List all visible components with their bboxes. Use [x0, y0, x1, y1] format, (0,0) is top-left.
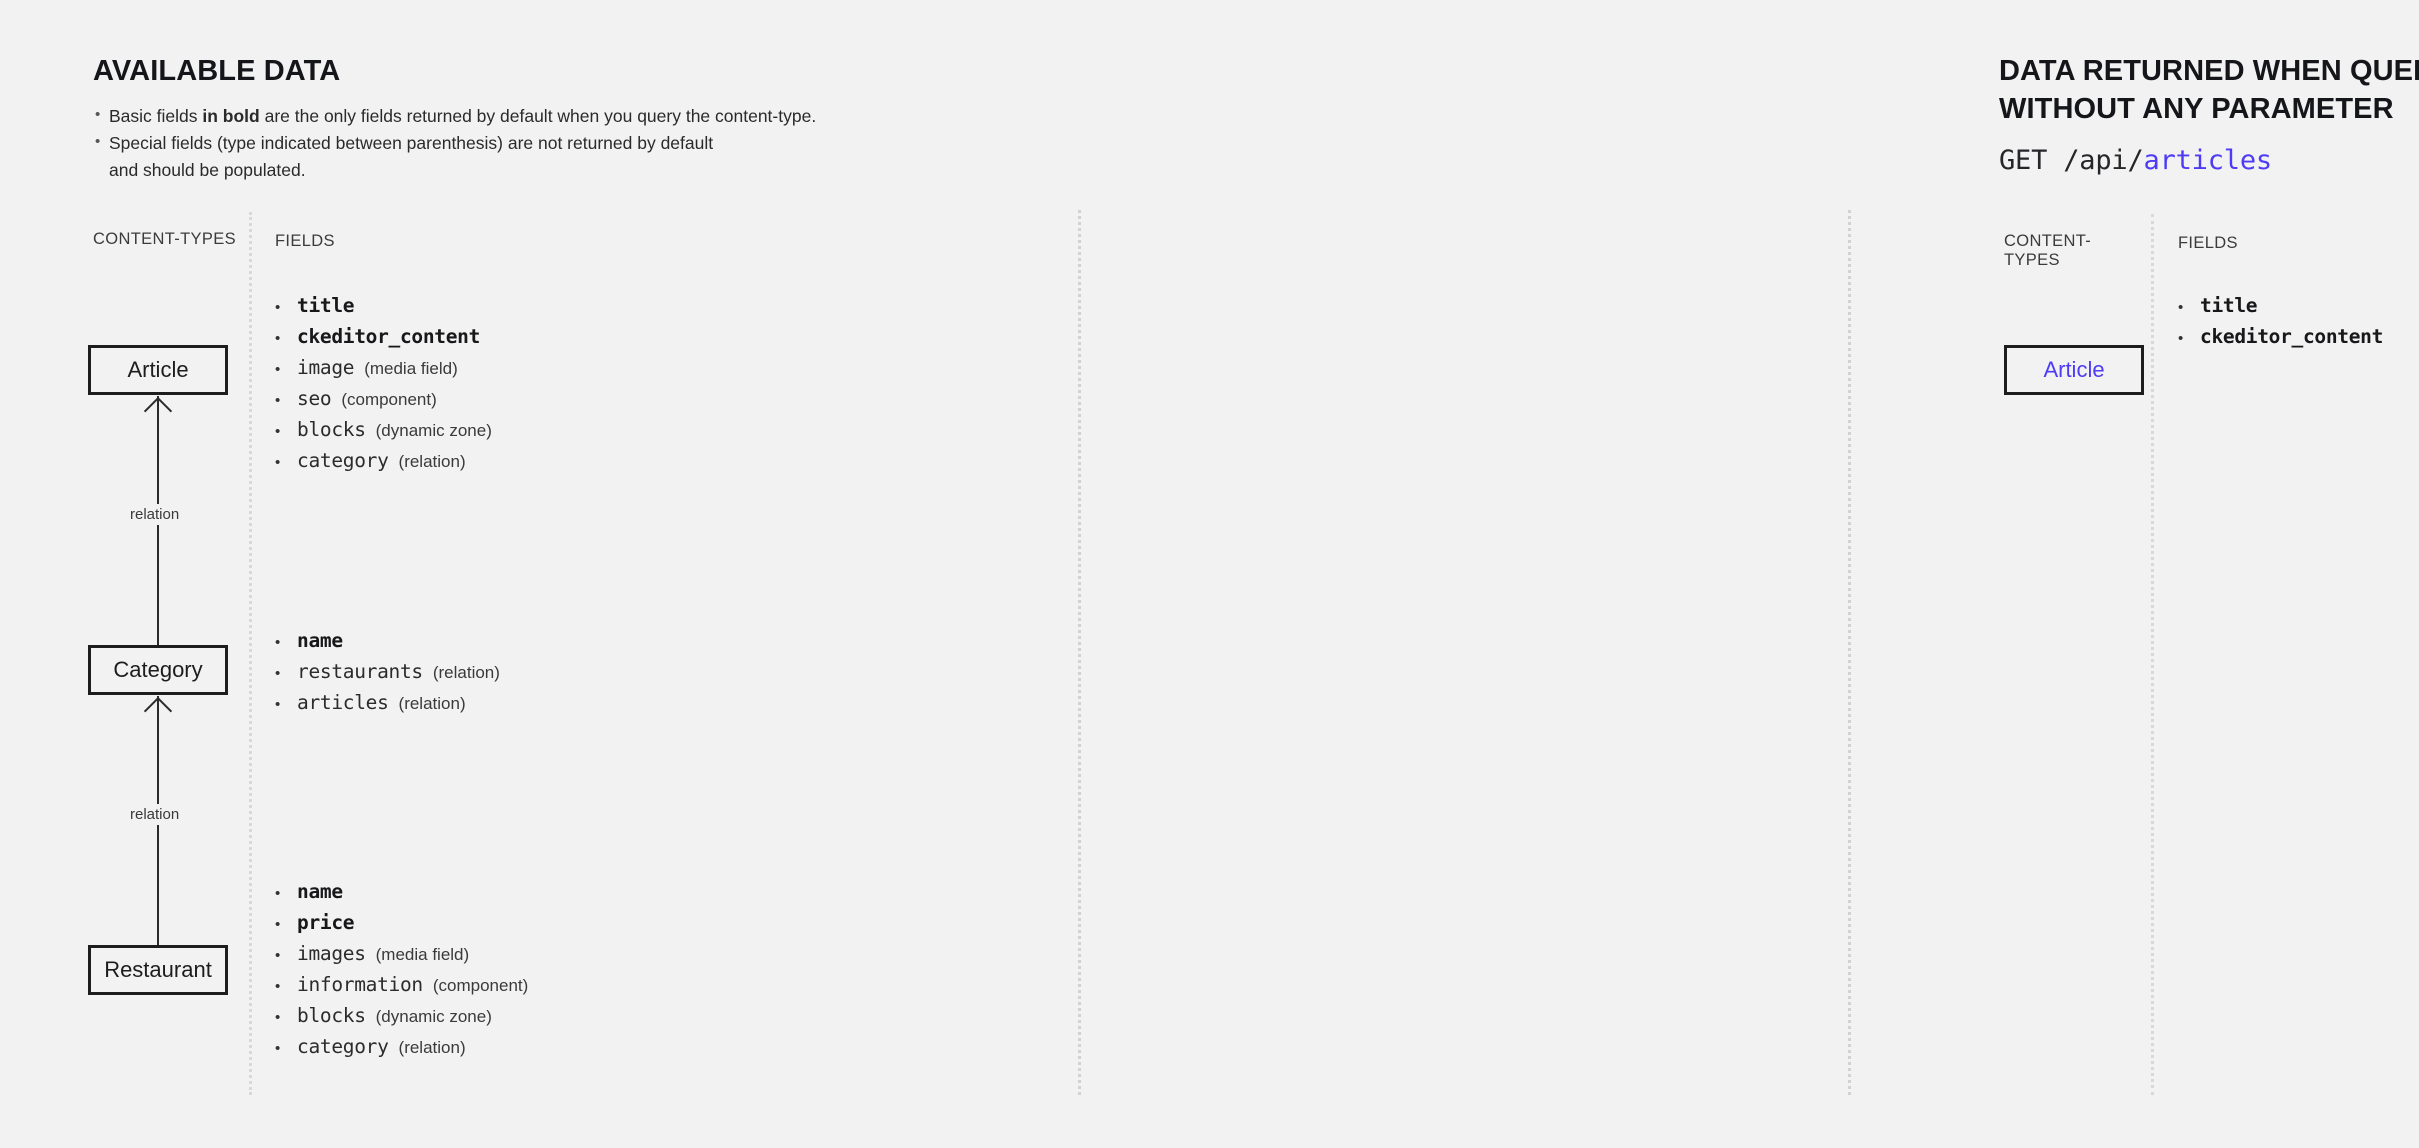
field-row: • title	[275, 292, 492, 323]
field-list-restaurant: • name • price • images (media field) • …	[275, 878, 528, 1064]
bullet-icon: •	[95, 130, 109, 153]
field-name: articles	[297, 691, 389, 714]
bullet-icon: •	[95, 103, 109, 126]
column-label-fields: FIELDS	[275, 232, 335, 251]
field-type: (component)	[341, 390, 436, 410]
field-type: (media field)	[376, 945, 470, 965]
field-row: • blocks (dynamic zone)	[275, 416, 492, 447]
bullet-icon: •	[275, 1002, 297, 1033]
entity-box-restaurant[interactable]: Restaurant	[88, 945, 228, 995]
arrow-head-up-article	[144, 397, 172, 425]
relation-arrow-line-category-restaurant	[157, 696, 159, 966]
relation-arrow-line-article-category	[157, 396, 159, 666]
entity-box-category[interactable]: Category	[88, 645, 228, 695]
bullet-icon: •	[275, 658, 297, 689]
field-type: (dynamic zone)	[376, 421, 492, 441]
field-list-category: • name • restaurants (relation) • articl…	[275, 627, 500, 720]
field-list-article: • title • ckeditor_content • image (medi…	[275, 292, 492, 478]
field-type: (relation)	[433, 663, 500, 683]
bullet-icon: •	[275, 878, 297, 909]
diagram-canvas: AVAILABLE DATA • Basic fields in bold ar…	[0, 0, 2419, 1148]
field-name: restaurants	[297, 660, 423, 683]
field-row: • category (relation)	[275, 447, 492, 478]
bullet-icon: •	[275, 447, 297, 478]
field-row: • seo (component)	[275, 385, 492, 416]
field-row: • category (relation)	[275, 1033, 528, 1064]
bullet-icon: •	[275, 354, 297, 385]
field-row: • name	[275, 627, 500, 658]
bullet-icon: •	[275, 627, 297, 658]
field-type: (media field)	[364, 359, 458, 379]
field-row: • price	[275, 909, 528, 940]
bullet-icon: •	[275, 323, 297, 354]
bullet-icon: •	[275, 971, 297, 1002]
intro-bullet-1: • Basic fields in bold are the only fiel…	[95, 103, 816, 130]
field-row: • articles (relation)	[275, 689, 500, 720]
intro-text-2: Special fields (type indicated between p…	[109, 130, 713, 157]
bullet-icon: •	[275, 689, 297, 720]
field-row: • blocks (dynamic zone)	[275, 1002, 528, 1033]
field-type: (relation)	[399, 452, 466, 472]
field-name: ckeditor_content	[297, 325, 480, 348]
intro-text-1-post: are the only fields returned by default …	[260, 106, 816, 126]
field-name: category	[297, 449, 389, 472]
panel-populate-deep: DATA RETURNED WHEN QUERYING ARTICLES AND…	[1850, 0, 2419, 1148]
field-name: image	[297, 356, 354, 379]
relation-label-article-category: relation	[125, 504, 184, 525]
heading-available-data: AVAILABLE DATA	[93, 52, 340, 90]
intro-bullet-2: • Special fields (type indicated between…	[95, 130, 816, 157]
field-row: • information (component)	[275, 971, 528, 1002]
intro-text-1-bold: in bold	[202, 106, 259, 126]
field-name: category	[297, 1035, 389, 1058]
field-name: blocks	[297, 1004, 366, 1027]
field-name: seo	[297, 387, 331, 410]
bullet-icon: •	[275, 385, 297, 416]
intro-text-2-cont: and should be populated.	[109, 157, 306, 184]
arrow-head-up-category	[144, 697, 172, 725]
intro-text-1: Basic fields in bold are the only fields…	[109, 103, 816, 130]
field-row: • ckeditor_content	[275, 323, 492, 354]
field-row: • restaurants (relation)	[275, 658, 500, 689]
field-name: name	[297, 629, 343, 652]
sub-separator-available	[249, 212, 252, 1095]
field-row: • name	[275, 878, 528, 909]
field-name: images	[297, 942, 366, 965]
field-name: information	[297, 973, 423, 996]
field-name: price	[297, 911, 354, 934]
panel-available-data: AVAILABLE DATA • Basic fields in bold ar…	[0, 0, 1080, 1148]
bullet-icon: •	[275, 1033, 297, 1064]
bullet-icon: •	[275, 909, 297, 940]
field-name: name	[297, 880, 343, 903]
field-name: title	[297, 294, 354, 317]
column-label-content-types: CONTENT-TYPES	[93, 230, 236, 249]
bullet-icon: •	[275, 292, 297, 323]
intro-text-1-pre: Basic fields	[109, 106, 202, 126]
panel-no-parameter: DATA RETURNED WHEN QUERYING ARTICLES WIT…	[1080, 0, 1850, 1148]
field-type: (relation)	[399, 694, 466, 714]
field-type: (relation)	[399, 1038, 466, 1058]
intro-bullet-list: • Basic fields in bold are the only fiel…	[95, 103, 816, 184]
field-name: blocks	[297, 418, 366, 441]
entity-box-article[interactable]: Article	[88, 345, 228, 395]
bullet-icon: •	[275, 416, 297, 447]
field-type: (component)	[433, 976, 528, 996]
field-type: (dynamic zone)	[376, 1007, 492, 1027]
intro-bullet-2-continuation: and should be populated.	[95, 157, 816, 184]
field-row: • image (media field)	[275, 354, 492, 385]
relation-label-category-restaurant: relation	[125, 804, 184, 825]
bullet-icon: •	[275, 940, 297, 971]
field-row: • images (media field)	[275, 940, 528, 971]
